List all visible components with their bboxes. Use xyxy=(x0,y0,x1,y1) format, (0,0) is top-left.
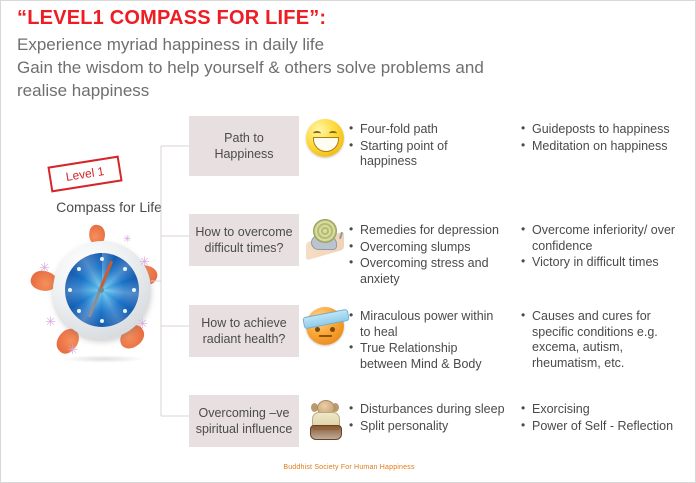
bullets-row2-right: Overcome inferiority/ over confidence Vi… xyxy=(521,223,693,272)
node-box-2-line2: difficult times? xyxy=(205,241,284,255)
list-item: Power of Self - Reflection xyxy=(521,419,693,435)
node-box-4-line2: spiritual influence xyxy=(196,422,293,436)
node-box-1-line1: Path to xyxy=(224,131,264,145)
bullets-row2-left: Remedies for depression Overcoming slump… xyxy=(349,223,507,288)
node-box-3-line2: radiant health? xyxy=(203,332,286,346)
subtitle-line-3: realise happiness xyxy=(17,79,677,102)
slide-header: “LEVEL1 COMPASS FOR LIFE”: Experience my… xyxy=(17,5,677,102)
smiley-face-icon xyxy=(306,119,346,159)
list-item: Victory in difficult times xyxy=(521,255,693,271)
list-item: Guideposts to happiness xyxy=(521,122,693,138)
node-box-1-line2: Happiness xyxy=(214,147,273,161)
seated-monk-icon xyxy=(306,399,346,439)
bullets-row4-right: Exorcising Power of Self - Reflection xyxy=(521,402,693,435)
bullets-row3-right: Causes and cures for specific conditions… xyxy=(521,309,693,372)
node-box-2-line1: How to overcome xyxy=(195,225,292,239)
snail-climbing-icon xyxy=(306,217,346,257)
node-box-2[interactable]: How to overcome difficult times? xyxy=(189,214,299,266)
list-item: Disturbances during sleep xyxy=(349,402,507,418)
list-item: Starting point of happiness xyxy=(349,139,507,170)
slide-canvas: “LEVEL1 COMPASS FOR LIFE”: Experience my… xyxy=(0,0,696,483)
list-item: True Relationship between Mind & Body xyxy=(349,341,507,372)
list-item: Exorcising xyxy=(521,402,693,418)
list-item: Meditation on happiness xyxy=(521,139,693,155)
bullets-row4-left: Disturbances during sleep Split personal… xyxy=(349,402,507,435)
bullets-row3-left: Miraculous power within to heal True Rel… xyxy=(349,309,507,373)
footer-credit: Buddhist Society For Human Happiness xyxy=(1,464,696,471)
list-item: Four-fold path xyxy=(349,122,507,138)
list-item: Split personality xyxy=(349,419,507,435)
node-box-3-line1: How to achieve xyxy=(201,316,286,330)
node-box-3[interactable]: How to achieve radiant health? xyxy=(189,305,299,357)
page-title: “LEVEL1 COMPASS FOR LIFE”: xyxy=(17,5,677,31)
list-item: Overcoming stress and anxiety xyxy=(349,256,507,287)
node-box-1[interactable]: Path to Happiness xyxy=(189,116,299,176)
level-stamp-label: Level 1 xyxy=(50,158,121,190)
bullets-row1-right: Guideposts to happiness Meditation on ha… xyxy=(521,122,693,155)
sick-face-icon xyxy=(306,307,346,347)
subtitle-line-2: Gain the wisdom to help yourself & other… xyxy=(17,56,677,79)
node-box-4[interactable]: Overcoming –ve spiritual influence xyxy=(189,395,299,447)
node-box-4-line1: Overcoming –ve xyxy=(198,406,289,420)
list-item: Overcome inferiority/ over confidence xyxy=(521,223,693,254)
list-item: Overcoming slumps xyxy=(349,240,507,256)
list-item: Causes and cures for specific conditions… xyxy=(521,309,693,371)
subtitle-line-1: Experience myriad happiness in daily lif… xyxy=(17,33,677,56)
level-stamp: Level 1 xyxy=(47,156,122,193)
list-item: Remedies for depression xyxy=(349,223,507,239)
bullets-row1-left: Four-fold path Starting point of happine… xyxy=(349,122,507,171)
list-item: Miraculous power within to heal xyxy=(349,309,507,340)
compass-icon: ✳ ✳ ✳ ✳ ✳ ✳ xyxy=(27,219,167,369)
